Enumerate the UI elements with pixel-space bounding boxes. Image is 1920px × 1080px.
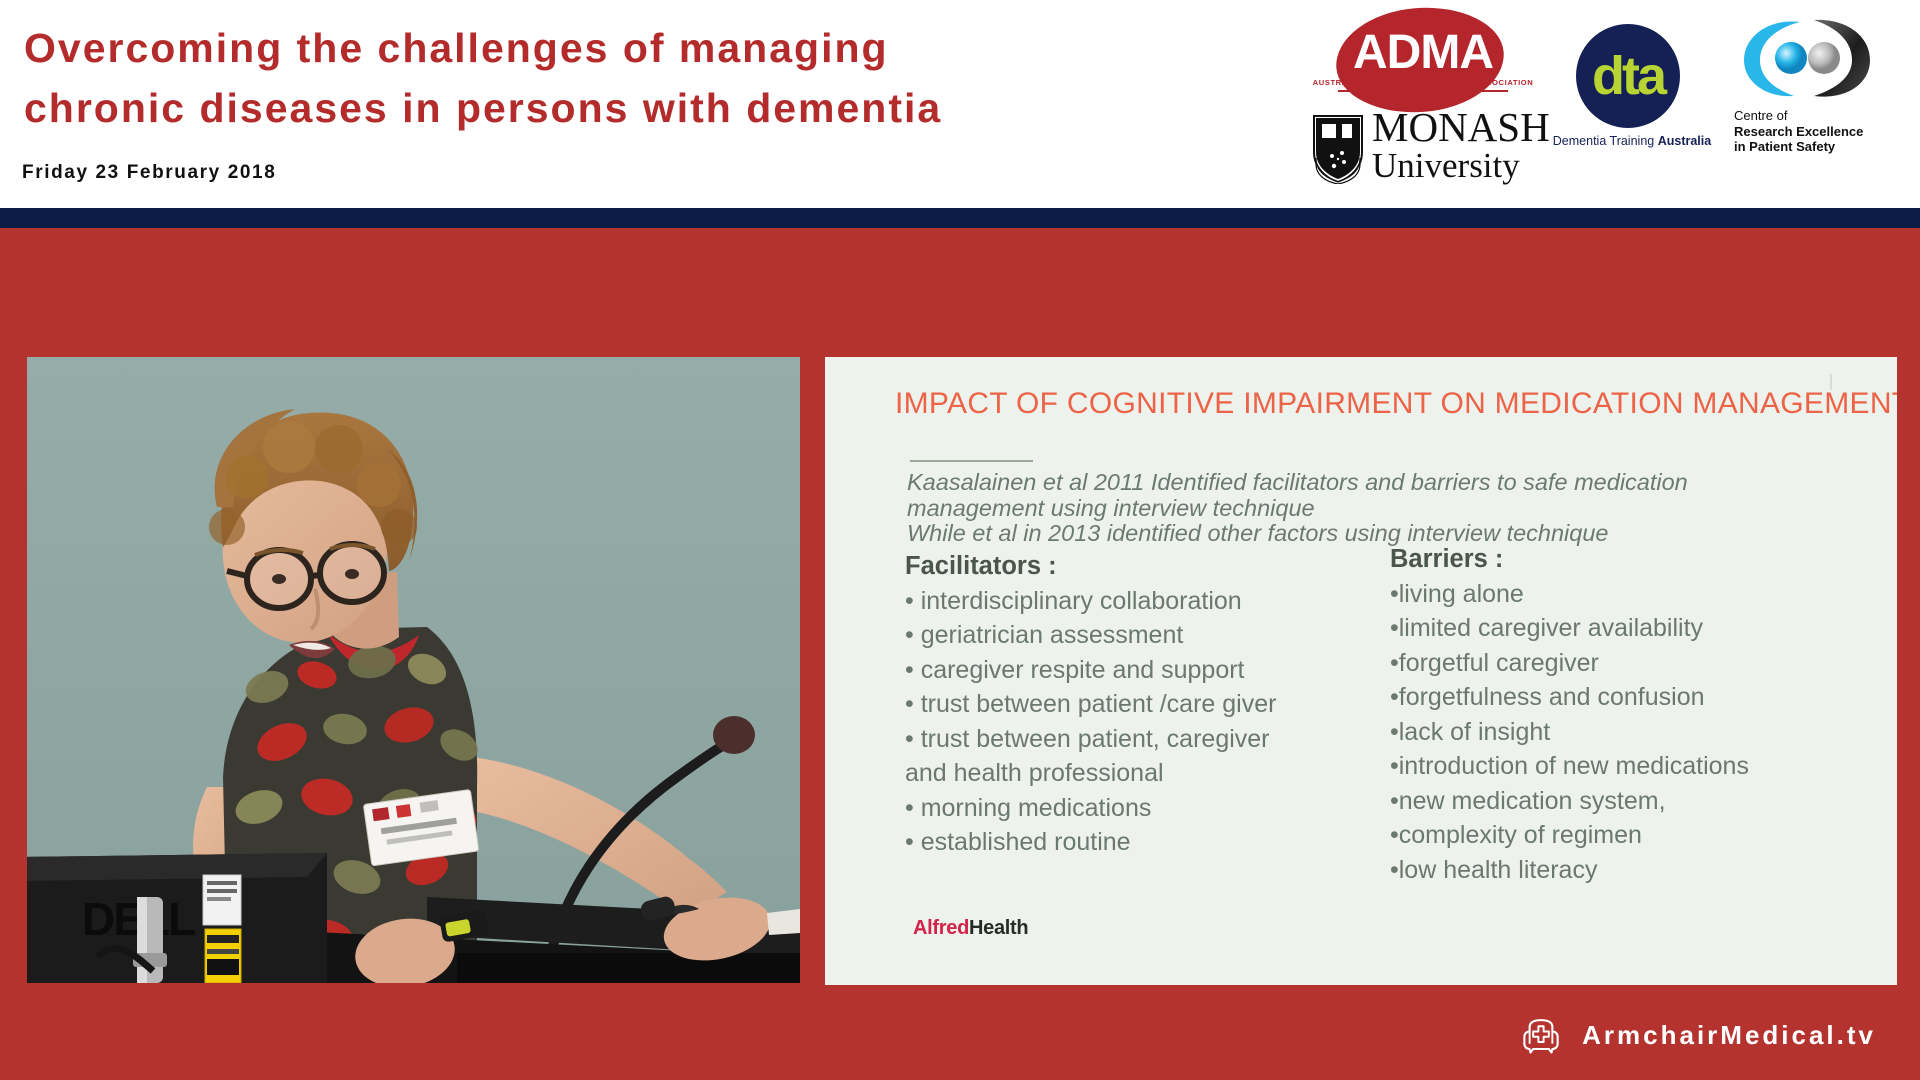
page-title: Overcoming the challenges of managing ch… bbox=[24, 18, 1324, 138]
facilitators-item: • morning medications bbox=[905, 791, 1325, 826]
alfred-health-logo-part-2: Health bbox=[969, 917, 1028, 939]
monash-line-1: MONASH bbox=[1372, 108, 1550, 147]
dta-caption-bold: Australia bbox=[1658, 134, 1712, 148]
facilitators-column: Facilitators : • interdisciplinary colla… bbox=[905, 549, 1325, 860]
barriers-item: •limited caregiver availability bbox=[1390, 611, 1810, 646]
alfred-health-logo-part-1: Alfred bbox=[913, 917, 969, 939]
slide-title-rule bbox=[910, 460, 1033, 462]
barriers-item: •introduction of new medications bbox=[1390, 749, 1810, 784]
page-title-line-2: chronic diseases in persons with dementi… bbox=[24, 78, 1324, 138]
facilitators-item: • trust between patient /care giver bbox=[905, 687, 1325, 722]
adma-wordmark: ADMA bbox=[1308, 28, 1538, 78]
adma-logo: ADMA AUSTRALIAN DISEASE MANAGEMENT ASSOC… bbox=[1308, 6, 1538, 114]
facilitators-heading: Facilitators : bbox=[905, 549, 1325, 584]
navy-divider-bar bbox=[0, 208, 1920, 228]
facilitators-item: and health professional bbox=[905, 756, 1325, 791]
slide-intro-line-1: Kaasalainen et al 2011 Identified facili… bbox=[907, 470, 1797, 496]
slide-title: IMPACT OF COGNITIVE IMPAIRMENT ON MEDICA… bbox=[895, 387, 1897, 421]
barriers-item: •forgetfulness and confusion bbox=[1390, 680, 1810, 715]
barriers-item: •living alone bbox=[1390, 577, 1810, 612]
barriers-heading: Barriers : bbox=[1390, 542, 1810, 577]
page-title-line-1: Overcoming the challenges of managing bbox=[24, 18, 1324, 78]
speaker-photo-illustration: DELL bbox=[27, 357, 800, 983]
creps-line-2: Research Excellence bbox=[1734, 124, 1920, 140]
presentation-slide: IMPACT OF COGNITIVE IMPAIRMENT ON MEDICA… bbox=[825, 357, 1897, 985]
dta-mark: dta bbox=[1576, 24, 1680, 128]
event-date: Friday 23 February 2018 bbox=[22, 162, 276, 184]
armchair-medical-cross-icon bbox=[1520, 1014, 1562, 1056]
facilitators-item: • caregiver respite and support bbox=[905, 653, 1325, 688]
creps-line-1: Centre of bbox=[1734, 108, 1920, 124]
presentation-page: Overcoming the challenges of managing ch… bbox=[0, 0, 1920, 1080]
barriers-column: Barriers : •living alone •limited caregi… bbox=[1390, 542, 1810, 887]
barriers-item: •complexity of regimen bbox=[1390, 818, 1810, 853]
adma-underline bbox=[1338, 90, 1508, 92]
dta-caption-regular: Dementia Training bbox=[1553, 134, 1658, 148]
creps-eye-icon bbox=[1734, 16, 1876, 102]
facilitators-item: • established routine bbox=[905, 825, 1325, 860]
alfred-health-logo: AlfredHealth bbox=[913, 917, 1028, 940]
facilitators-item: • interdisciplinary collaboration bbox=[905, 584, 1325, 619]
barriers-item: •lack of insight bbox=[1390, 715, 1810, 750]
monash-line-2: University bbox=[1372, 149, 1550, 182]
barriers-item: •forgetful caregiver bbox=[1390, 646, 1810, 681]
slide-intro-line-2: management using interview technique bbox=[907, 496, 1797, 522]
speaker-photo: DELL bbox=[27, 357, 800, 983]
barriers-item: •low health literacy bbox=[1390, 853, 1810, 888]
logo-strip: ADMA AUSTRALIAN DISEASE MANAGEMENT ASSOC… bbox=[1300, 0, 1920, 208]
dta-caption: Dementia Training Australia bbox=[1532, 134, 1732, 148]
page-header: Overcoming the challenges of managing ch… bbox=[0, 0, 1920, 208]
adma-subtitle: AUSTRALIAN DISEASE MANAGEMENT ASSOCIATIO… bbox=[1308, 78, 1538, 87]
armchair-medical-brand-text: ArmchairMedical.tv bbox=[1582, 1020, 1876, 1051]
monash-wordmark: MONASH University bbox=[1372, 108, 1550, 182]
armchair-medical-brand[interactable]: ArmchairMedical.tv bbox=[1520, 1012, 1876, 1058]
creps-wordmark: Centre of Research Excellence in Patient… bbox=[1734, 108, 1920, 155]
monash-shield-icon bbox=[1310, 112, 1366, 184]
facilitators-item: • trust between patient, caregiver bbox=[905, 722, 1325, 757]
facilitators-item: • geriatrician assessment bbox=[905, 618, 1325, 653]
barriers-item: •new medication system, bbox=[1390, 784, 1810, 819]
monash-logo: MONASH University bbox=[1308, 110, 1544, 196]
slide-intro-text: Kaasalainen et al 2011 Identified facili… bbox=[907, 470, 1797, 547]
dta-logo: dta Dementia Training Australia bbox=[1550, 24, 1710, 159]
creps-logo: Centre of Research Excellence in Patient… bbox=[1718, 16, 1918, 176]
creps-line-3: in Patient Safety bbox=[1734, 139, 1920, 155]
